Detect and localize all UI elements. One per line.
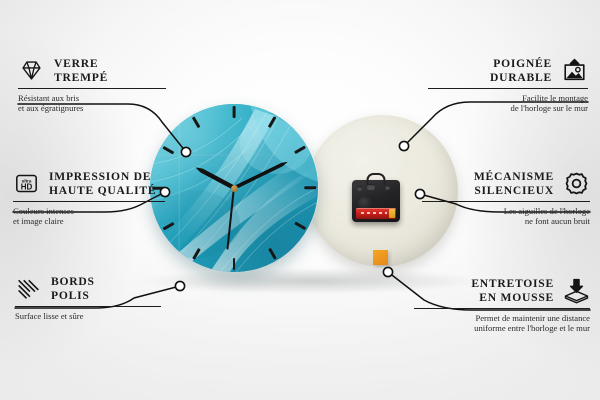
- feature-description: Les aiguilles de l'horloge ne font aucun…: [422, 206, 590, 227]
- clock-mechanism: [352, 180, 400, 222]
- feature-description: Facilite le montage de l'horloge sur le …: [428, 93, 588, 114]
- diamond-icon: [18, 57, 45, 84]
- gear-icon: [563, 170, 590, 197]
- divider: [428, 88, 588, 89]
- ultra-hd-icon: ultra HD: [13, 170, 40, 197]
- divider: [414, 308, 590, 309]
- feature-poignee-durable: POIGNÉE DURABLE Facilite le montage de l…: [428, 57, 588, 114]
- foam-spacer: [373, 250, 388, 265]
- ultra-hd-icon-bottom: HD: [21, 182, 33, 191]
- feature-description: Permet de maintenir une distance uniform…: [414, 313, 590, 334]
- feature-impression-haute-qualite: ultra HD IMPRESSION DE HAUTE QUALITÉ Cou…: [13, 170, 165, 227]
- feature-description: Couleurs intenses et image claire: [13, 206, 165, 227]
- mechanism-details: [356, 184, 396, 197]
- feature-title: POIGNÉE DURABLE: [490, 57, 552, 84]
- feature-title: IMPRESSION DE HAUTE QUALITÉ: [49, 170, 156, 197]
- hanging-picture-icon: [561, 57, 588, 84]
- feature-description: Surface lisse et sûre: [15, 311, 161, 321]
- hand-cap: [231, 185, 238, 192]
- divider: [18, 88, 166, 89]
- diagonal-lines-icon: [15, 275, 42, 302]
- feature-title: MÉCANISME SILENCIEUX: [474, 170, 554, 197]
- feature-mecanisme-silencieux: MÉCANISME SILENCIEUX Les aiguilles de l'…: [422, 170, 590, 227]
- feature-description: Résistant aux bris et aux égratignures: [18, 93, 166, 114]
- feature-verre-trempe: VERRE TREMPÉ Résistant aux bris et aux é…: [18, 57, 166, 114]
- divider: [422, 201, 590, 202]
- feature-title: BORDS POLIS: [51, 275, 95, 302]
- feature-entretoise-en-mousse: ENTRETOISE EN MOUSSE Permet de maintenir…: [414, 277, 590, 334]
- feature-bords-polis: BORDS POLIS Surface lisse et sûre: [15, 275, 161, 321]
- arrow-down-pad-icon: [563, 277, 590, 304]
- clock-front-face: [150, 104, 318, 272]
- battery: [356, 208, 396, 219]
- infographic-canvas: VERRE TREMPÉ Résistant aux bris et aux é…: [0, 0, 600, 400]
- divider: [13, 201, 165, 202]
- feature-title: ENTRETOISE EN MOUSSE: [471, 277, 554, 304]
- feature-title: VERRE TREMPÉ: [54, 57, 108, 84]
- divider: [15, 306, 161, 307]
